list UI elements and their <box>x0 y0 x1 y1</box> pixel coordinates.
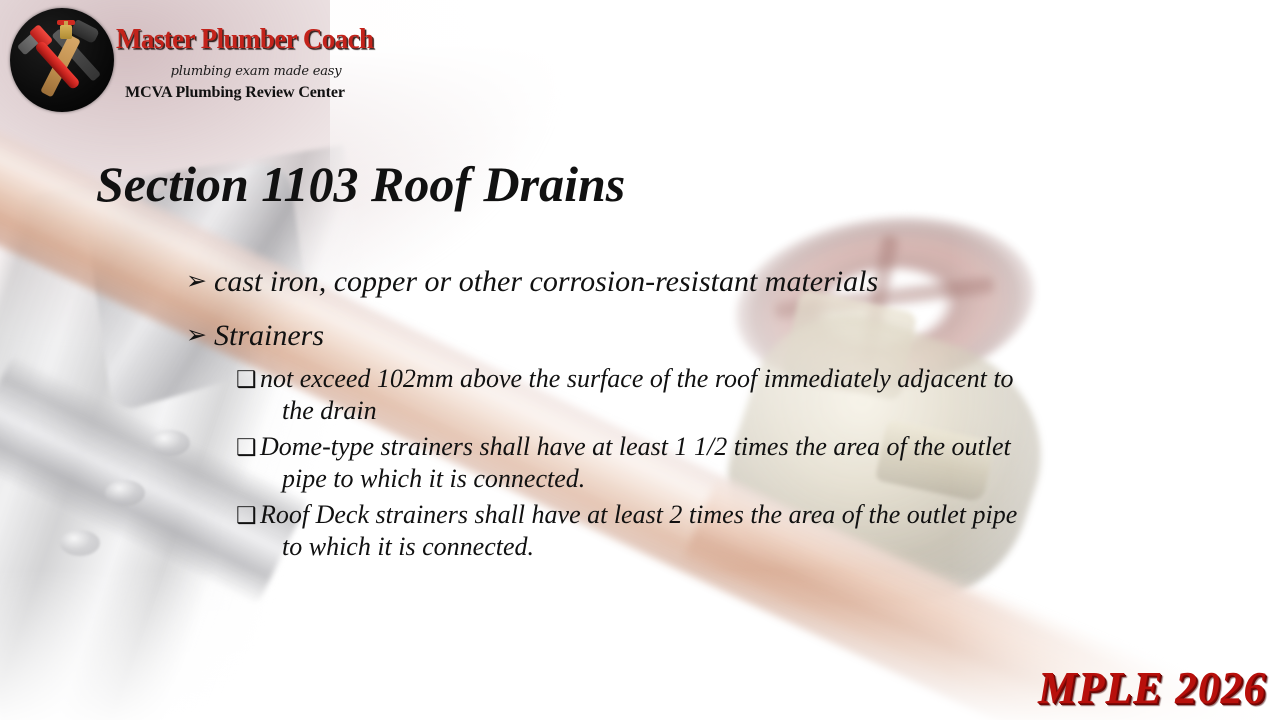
sub-bullet-line: to which it is connected. <box>260 531 1196 563</box>
gate-valve-icon <box>57 16 75 40</box>
logo-subtitle-text: MCVA Plumbing Review Center <box>116 84 354 102</box>
bullet-text: Strainers <box>214 309 1196 363</box>
logo: Master Plumber Coach plumbing exam made … <box>6 4 356 112</box>
valve-body-icon <box>60 25 72 39</box>
footer-watermark: MPLE 2026 <box>1038 662 1266 714</box>
wrench-rivet-shape <box>105 480 145 506</box>
sub-bullet-text: Dome-type strainers shall have at least … <box>260 431 1196 495</box>
logo-tagline-text: plumbing exam made easy <box>156 64 356 79</box>
sub-bullet-line: the drain <box>260 395 1196 427</box>
slide-canvas: Master Plumber Coach plumbing exam made … <box>0 0 1280 720</box>
arrow-bullet-icon: ➢ <box>186 309 214 363</box>
logo-brand-text: Master Plumber Coach <box>116 24 337 54</box>
sub-bullet-line: not exceed 102mm above the surface of th… <box>260 363 1196 395</box>
logo-badge-circle <box>10 8 114 112</box>
bullet-item-level1: ➢ cast iron, copper or other corrosion-r… <box>186 255 1196 309</box>
arrow-bullet-icon: ➢ <box>186 255 214 309</box>
square-bullet-icon: ❑ <box>236 363 260 396</box>
page-title: Section 1103 Roof Drains <box>96 156 625 212</box>
sub-bullet-item: ❑ Roof Deck strainers shall have at leas… <box>236 499 1196 563</box>
wrench-rivet-shape <box>60 530 100 556</box>
sub-bullet-text: Roof Deck strainers shall have at least … <box>260 499 1196 563</box>
sub-bullet-text: not exceed 102mm above the surface of th… <box>260 363 1196 427</box>
wrench-rivet-shape <box>150 430 190 456</box>
sub-bullet-line: Roof Deck strainers shall have at least … <box>260 499 1196 531</box>
bullet-text: cast iron, copper or other corrosion-res… <box>214 255 1196 309</box>
content-body: ➢ cast iron, copper or other corrosion-r… <box>186 255 1196 567</box>
bullet-item-level1: ➢ Strainers <box>186 309 1196 363</box>
sub-bullet-line: pipe to which it is connected. <box>260 463 1196 495</box>
square-bullet-icon: ❑ <box>236 431 260 464</box>
square-bullet-icon: ❑ <box>236 499 260 532</box>
sub-bullet-item: ❑ not exceed 102mm above the surface of … <box>236 363 1196 427</box>
sub-bullet-line: Dome-type strainers shall have at least … <box>260 431 1196 463</box>
sub-bullet-item: ❑ Dome-type strainers shall have at leas… <box>236 431 1196 495</box>
